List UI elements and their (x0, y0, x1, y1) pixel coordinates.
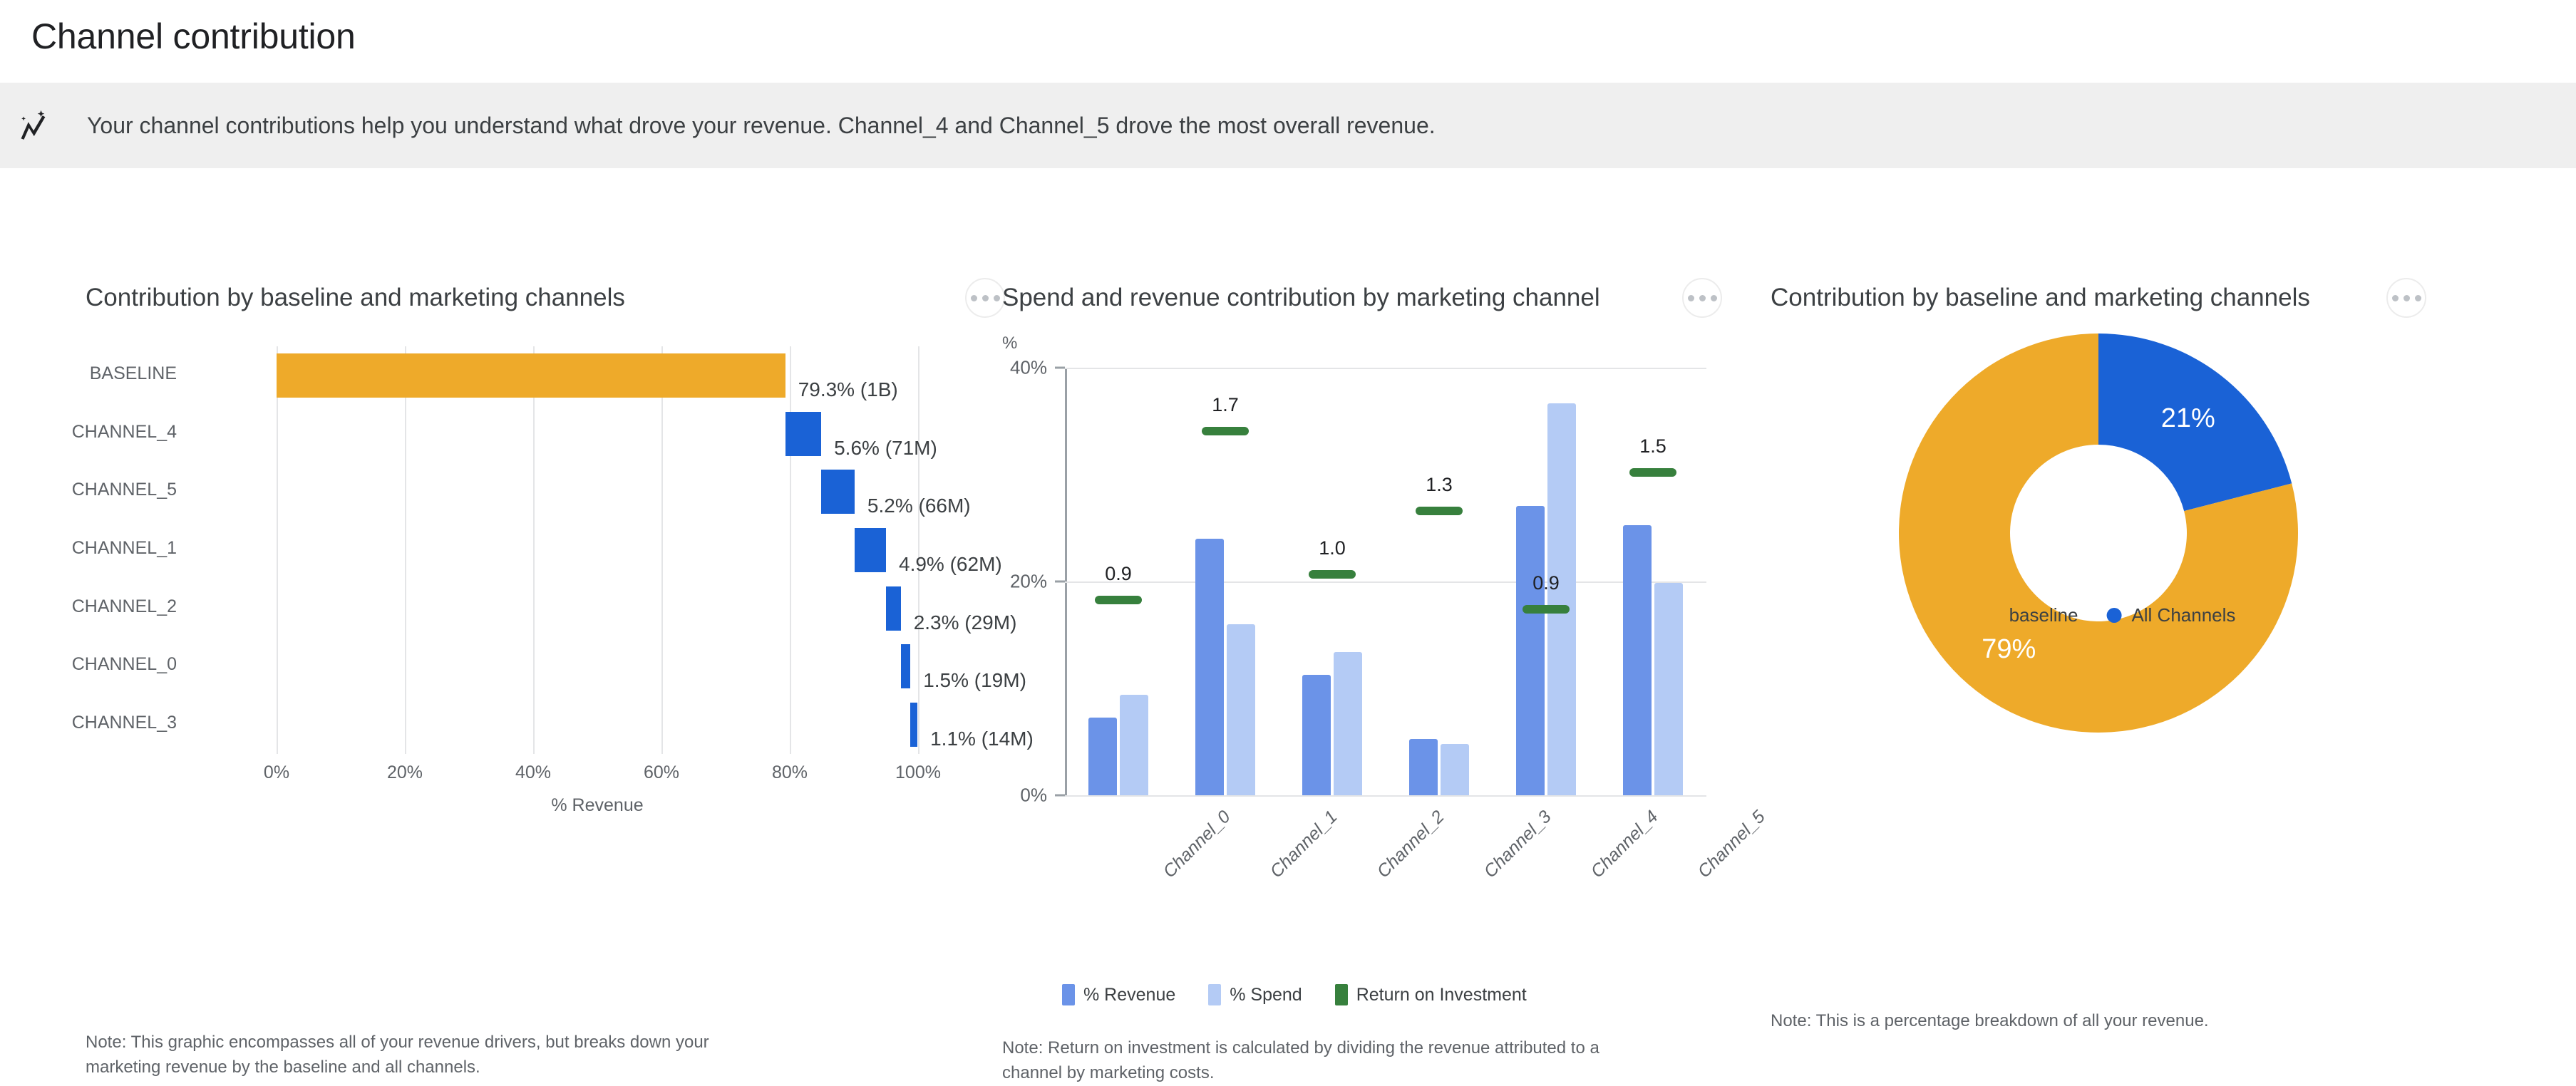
waterfall-row (277, 644, 918, 688)
bar-revenue[interactable] (1623, 525, 1652, 796)
waterfall-value-label: 79.3% (1B) (798, 378, 898, 401)
donut-legend: baselineAll Channels (1984, 604, 2236, 626)
waterfall-x-axis-title: % Revenue (551, 795, 643, 816)
insight-text: Your channel contributions help you unde… (87, 113, 1436, 139)
insights-sparkle-icon (16, 107, 53, 144)
legend-swatch (2106, 608, 2121, 623)
bars-x-tick: Channel_1 (1266, 807, 1341, 882)
legend-item[interactable]: % Spend (1208, 984, 1302, 1005)
roi-marker[interactable] (1095, 596, 1142, 604)
bars-x-tick: Channel_0 (1159, 807, 1235, 882)
legend-item[interactable]: All Channels (2106, 604, 2235, 626)
waterfall-row (277, 470, 918, 514)
kebab-menu-icon[interactable] (1682, 278, 1722, 318)
panel-donut: Contribution by baseline and marketing c… (1732, 168, 2488, 754)
waterfall-row (277, 528, 918, 572)
waterfall-x-tick: 0% (264, 762, 289, 783)
roi-value-label: 0.9 (1532, 572, 1560, 594)
waterfall-note: Note: This graphic encompasses all of yo… (86, 1030, 713, 1080)
donut-chart: 21%79% (1771, 326, 2426, 754)
waterfall-x-tick: 60% (644, 762, 679, 783)
panel-spend-revenue: Spend and revenue contribution by market… (955, 168, 1732, 844)
waterfall-gridline (918, 346, 919, 754)
waterfall-bar[interactable] (910, 703, 917, 747)
waterfall-plot: 0%20%40%60%80%100%BASELINE79.3% (1B)CHAN… (277, 346, 918, 754)
waterfall-row (277, 703, 918, 747)
waterfall-category-label: CHANNEL_0 (13, 654, 177, 675)
waterfall-category-label: CHANNEL_4 (13, 422, 177, 443)
roi-marker[interactable] (1202, 427, 1249, 435)
roi-marker[interactable] (1309, 570, 1356, 579)
insight-banner: Your channel contributions help you unde… (0, 83, 2576, 168)
waterfall-x-tick: 80% (772, 762, 808, 783)
bars-y-tick: 20% (1010, 571, 1047, 593)
roi-value-label: 1.7 (1212, 394, 1239, 416)
bar-revenue[interactable] (1409, 739, 1438, 796)
bars-x-tick: Channel_3 (1480, 807, 1555, 882)
legend-item[interactable]: Return on Investment (1335, 984, 1527, 1005)
bars-gridline (1065, 581, 1706, 583)
legend-item[interactable]: % Revenue (1062, 984, 1175, 1005)
spend-revenue-legend: % Revenue% SpendReturn on Investment (1062, 984, 1527, 1005)
legend-label: Return on Investment (1356, 985, 1527, 1005)
bar-spend[interactable] (1334, 652, 1362, 795)
waterfall-value-label: 5.6% (71M) (834, 437, 937, 460)
legend-swatch (1984, 608, 1999, 623)
panel-spend-revenue-title: Spend and revenue contribution by market… (1002, 284, 1600, 312)
bar-spend[interactable] (1547, 403, 1576, 796)
waterfall-category-label: BASELINE (13, 363, 177, 384)
spend-revenue-note: Note: Return on investment is calculated… (1002, 1036, 1615, 1086)
donut-note: Note: This is a percentage breakdown of … (1771, 1009, 2312, 1034)
panel-donut-title: Contribution by baseline and marketing c… (1771, 284, 2310, 312)
bars-y-tick: 40% (1010, 357, 1047, 379)
kebab-menu-icon[interactable] (2386, 278, 2426, 318)
bar-spend[interactable] (1227, 624, 1255, 795)
bars-y-tick-mark (1055, 795, 1065, 797)
legend-swatch (1062, 984, 1075, 1005)
spend-revenue-chart: 0%20%40%0.9Channel_01.7Channel_11.0Chann… (1002, 359, 1722, 844)
y-axis-unit-label: % (1002, 333, 1732, 353)
bar-revenue[interactable] (1302, 675, 1331, 796)
bar-revenue[interactable] (1516, 506, 1545, 796)
waterfall-row (277, 412, 918, 456)
bar-spend[interactable] (1120, 695, 1148, 795)
waterfall-bar[interactable] (855, 528, 886, 572)
legend-label: All Channels (2131, 604, 2235, 626)
waterfall-category-label: CHANNEL_2 (13, 596, 177, 617)
waterfall-x-tick: 20% (387, 762, 423, 783)
legend-item[interactable]: baseline (1984, 604, 2078, 626)
roi-marker[interactable] (1416, 507, 1463, 515)
bars-gridline (1065, 368, 1706, 369)
waterfall-bar[interactable] (277, 353, 785, 398)
waterfall-chart: 0%20%40%60%80%100%BASELINE79.3% (1B)CHAN… (86, 346, 1005, 788)
legend-swatch (1208, 984, 1221, 1005)
bars-y-tick: 0% (1020, 785, 1047, 807)
legend-label: % Spend (1230, 985, 1302, 1005)
roi-value-label: 0.9 (1105, 563, 1132, 585)
bars-y-tick-mark (1055, 581, 1065, 583)
panel-donut-header: Contribution by baseline and marketing c… (1771, 278, 2426, 318)
waterfall-category-label: CHANNEL_3 (13, 713, 177, 733)
legend-label: % Revenue (1083, 985, 1175, 1005)
donut-slice-label: 79% (1982, 634, 2036, 664)
bar-spend[interactable] (1441, 744, 1469, 795)
legend-label: baseline (2009, 604, 2078, 626)
panel-waterfall: Contribution by baseline and marketing c… (0, 168, 955, 788)
bar-revenue[interactable] (1088, 718, 1117, 796)
roi-value-label: 1.5 (1639, 435, 1666, 457)
waterfall-row (277, 586, 918, 631)
bars-gridline (1065, 795, 1706, 797)
roi-value-label: 1.3 (1426, 474, 1453, 496)
waterfall-category-label: CHANNEL_1 (13, 538, 177, 559)
panel-spend-revenue-header: Spend and revenue contribution by market… (1002, 278, 1722, 318)
waterfall-bar[interactable] (821, 470, 855, 514)
waterfall-x-tick: 40% (515, 762, 551, 783)
panel-waterfall-title: Contribution by baseline and marketing c… (86, 284, 625, 312)
bar-spend[interactable] (1654, 583, 1683, 796)
bars-x-tick: Channel_5 (1694, 807, 1769, 882)
donut-slice-label: 21% (2161, 403, 2215, 433)
bars-x-tick: Channel_2 (1373, 807, 1448, 882)
waterfall-category-label: CHANNEL_5 (13, 480, 177, 500)
page-title: Channel contribution (0, 0, 2576, 57)
bars-y-tick-mark (1055, 367, 1065, 369)
roi-value-label: 1.0 (1319, 537, 1346, 559)
waterfall-bar[interactable] (785, 412, 821, 456)
legend-swatch (1335, 984, 1348, 1005)
charts-row: Contribution by baseline and marketing c… (0, 168, 2576, 844)
waterfall-bar[interactable] (901, 644, 911, 688)
spend-revenue-plot: 0%20%40%0.9Channel_01.7Channel_11.0Chann… (1065, 368, 1706, 795)
waterfall-bar[interactable] (886, 586, 901, 631)
bars-x-tick: Channel_4 (1587, 807, 1662, 882)
donut-svg: 21%79% (1892, 326, 2305, 740)
roi-marker[interactable] (1523, 605, 1570, 614)
panel-waterfall-header: Contribution by baseline and marketing c… (86, 278, 1005, 318)
bar-revenue[interactable] (1195, 539, 1224, 795)
roi-marker[interactable] (1629, 468, 1676, 477)
waterfall-x-tick: 100% (895, 762, 941, 783)
